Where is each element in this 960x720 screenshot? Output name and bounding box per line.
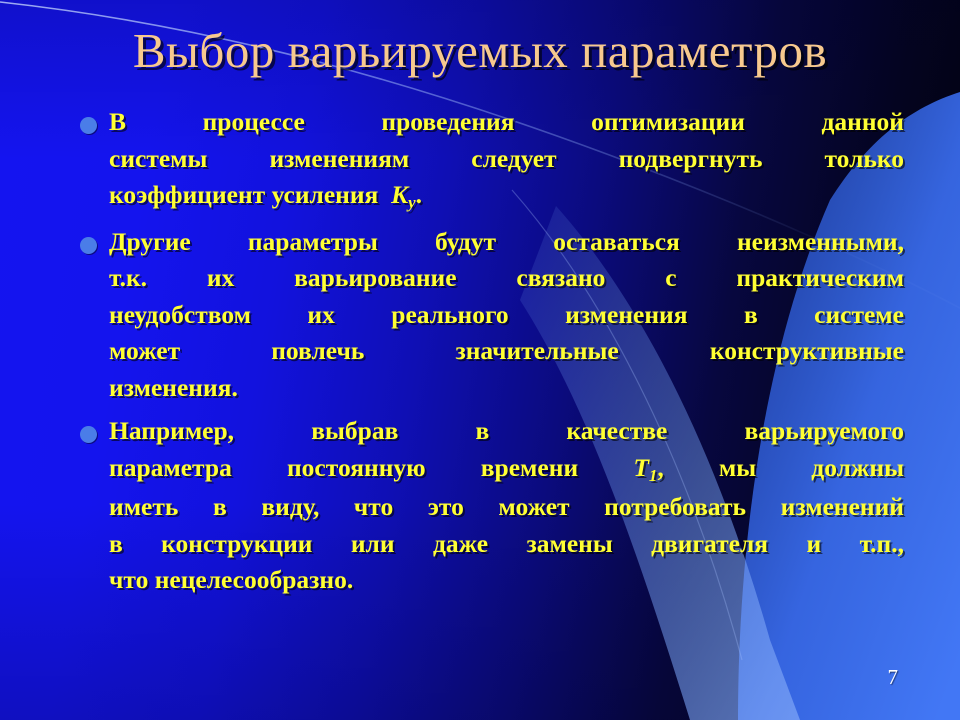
bullet-item: В процессе проведения оптимизации данной… [72, 104, 904, 217]
math-symbol-ku: Kу [391, 180, 416, 209]
bullet-circle-icon [80, 237, 97, 254]
bullet-line: иметь в виду, что это может потребовать … [109, 489, 904, 526]
bullet-line-text-cont: , мы должны [657, 453, 904, 482]
math-base: T [633, 453, 649, 482]
bullet-line: Например, выбрав в качестве варьируемого [109, 413, 904, 450]
bullet-line-text: коэффициент усиления [109, 180, 378, 209]
bullet-line: изменения. [109, 370, 904, 407]
math-base: K [391, 180, 408, 209]
bullet-line: неудобством их реального изменения в сис… [109, 297, 904, 334]
slide-page-number: 7 [888, 665, 899, 690]
math-trailing: . [416, 180, 422, 209]
math-symbol-t1: T1 [633, 453, 657, 482]
bullet-line: в конструкции или даже замены двигателя … [109, 526, 904, 563]
bullet-line: Другие параметры будут оставаться неизме… [109, 224, 904, 261]
bullet-paragraph: Например, выбрав в качестве варьируемого… [109, 413, 904, 599]
bullet-line-with-math: параметра постоянную времени T1, мы долж… [109, 450, 904, 490]
bullet-line-with-math: коэффициент усиления Kу. [109, 177, 904, 217]
math-subscript: 1 [649, 466, 657, 485]
math-subscript: у [408, 193, 415, 212]
bullet-line: т.к. их варьирование связано с практичес… [109, 260, 904, 297]
bullet-line: что нецелесообразно. [109, 562, 904, 599]
slide-title: Выбор варьируемых параметров [0, 22, 960, 80]
bullet-paragraph: Другие параметры будут оставаться неизме… [109, 224, 904, 407]
bullet-circle-icon [80, 117, 97, 134]
bullet-item: Например, выбрав в качестве варьируемого… [72, 413, 904, 599]
bullet-circle-icon [80, 426, 97, 443]
bullet-line: может повлечь значительные конструктивны… [109, 333, 904, 370]
bullet-line: В процессе проведения оптимизации данной [109, 104, 904, 141]
bullet-line-text: параметра постоянную времени [109, 453, 578, 482]
presentation-slide: Выбор варьируемых параметров В процессе … [0, 0, 960, 720]
bullet-line: системы изменениям следует подвергнуть т… [109, 141, 904, 178]
slide-body: В процессе проведения оптимизации данной… [72, 104, 904, 606]
bullet-paragraph: В процессе проведения оптимизации данной… [109, 104, 904, 217]
bullet-item: Другие параметры будут оставаться неизме… [72, 224, 904, 407]
